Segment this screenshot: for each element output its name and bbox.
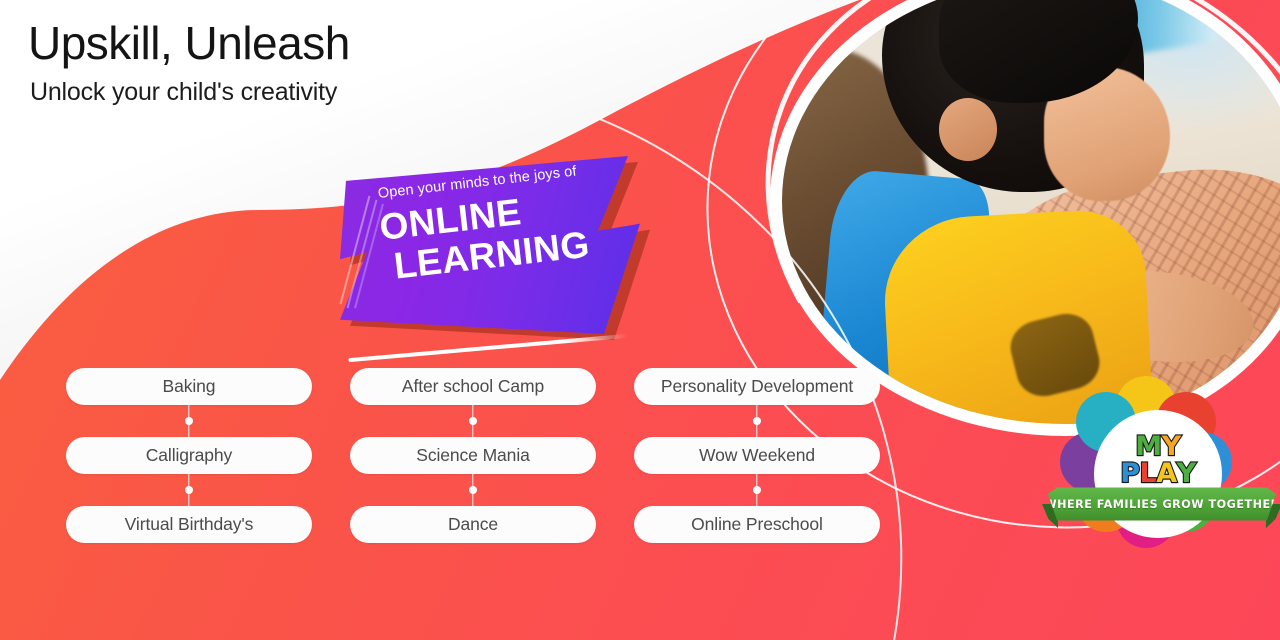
logo-word-my: MY [1135, 434, 1180, 460]
connector-dot [753, 417, 761, 425]
online-learning-ribbon: Open your minds to the joys of ONLINE LE… [330, 150, 660, 360]
program-columns: Baking Calligraphy Virtual Birthday's Af… [66, 368, 880, 543]
logo-tagline-text: WHERE FAMILIES GROW TOGETHER [1044, 498, 1279, 511]
connector-dot [185, 486, 193, 494]
program-column-1: Baking Calligraphy Virtual Birthday's [66, 368, 312, 543]
photo-yellow-shirt [880, 208, 1155, 424]
my-play-date-logo[interactable]: MY PLAY DATE WHERE FAMILIES GROW TOGETHE… [1046, 400, 1278, 576]
promo-banner: Upskill, Unleash Unlock your child's cre… [0, 0, 1280, 640]
program-pill-science-mania[interactable]: Science Mania [350, 437, 596, 474]
program-pill-after-school-camp[interactable]: After school Camp [350, 368, 596, 405]
connector-dot [469, 417, 477, 425]
ribbon-underline [348, 334, 627, 362]
connector-dot [185, 417, 193, 425]
program-pill-dance[interactable]: Dance [350, 506, 596, 543]
program-pill-wow-weekend[interactable]: Wow Weekend [634, 437, 880, 474]
program-column-2: After school Camp Science Mania Dance [350, 368, 596, 543]
logo-word-play: PLAY [1120, 461, 1195, 487]
page-subtitle: Unlock your child's creativity [30, 78, 350, 107]
program-pill-virtual-birthdays[interactable]: Virtual Birthday's [66, 506, 312, 543]
program-pill-personality-development[interactable]: Personality Development [634, 368, 880, 405]
logo-tagline-ribbon: WHERE FAMILIES GROW TOGETHER [1048, 486, 1276, 522]
photo-child-ear [939, 98, 997, 160]
program-column-3: Personality Development Wow Weekend Onli… [634, 368, 880, 543]
connector-dot [753, 486, 761, 494]
program-pill-online-preschool[interactable]: Online Preschool [634, 506, 880, 543]
headline-group: Upskill, Unleash Unlock your child's cre… [28, 16, 350, 107]
program-pill-baking[interactable]: Baking [66, 368, 312, 405]
program-pill-calligraphy[interactable]: Calligraphy [66, 437, 312, 474]
page-title: Upskill, Unleash [28, 16, 350, 70]
connector-dot [469, 486, 477, 494]
